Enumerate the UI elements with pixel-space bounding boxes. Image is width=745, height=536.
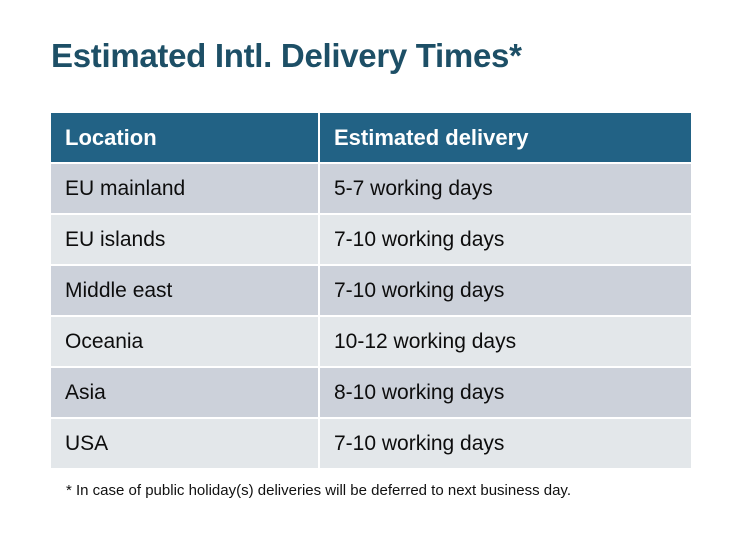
cell-location: USA [51, 419, 318, 468]
table-header-row: Location Estimated delivery [51, 113, 691, 162]
page-title: Estimated Intl. Delivery Times* [51, 36, 522, 76]
cell-estimated-delivery: 7-10 working days [320, 215, 691, 264]
column-header-location: Location [51, 113, 318, 162]
delivery-times-table: Location Estimated delivery EU mainland … [51, 113, 691, 468]
table-row: EU mainland 5-7 working days [51, 164, 691, 213]
cell-location: Asia [51, 368, 318, 417]
cell-estimated-delivery: 8-10 working days [320, 368, 691, 417]
cell-location: Middle east [51, 266, 318, 315]
cell-estimated-delivery: 5-7 working days [320, 164, 691, 213]
cell-estimated-delivery: 7-10 working days [320, 266, 691, 315]
cell-location: EU islands [51, 215, 318, 264]
cell-estimated-delivery: 10-12 working days [320, 317, 691, 366]
table-row: USA 7-10 working days [51, 419, 691, 468]
footnote-text: * In case of public holiday(s) deliverie… [66, 481, 571, 501]
table-row: Middle east 7-10 working days [51, 266, 691, 315]
delivery-times-page: Estimated Intl. Delivery Times* Location… [0, 0, 745, 536]
table-row: EU islands 7-10 working days [51, 215, 691, 264]
table-row: Oceania 10-12 working days [51, 317, 691, 366]
cell-location: Oceania [51, 317, 318, 366]
cell-location: EU mainland [51, 164, 318, 213]
column-header-estimated-delivery: Estimated delivery [320, 113, 691, 162]
cell-estimated-delivery: 7-10 working days [320, 419, 691, 468]
table-row: Asia 8-10 working days [51, 368, 691, 417]
